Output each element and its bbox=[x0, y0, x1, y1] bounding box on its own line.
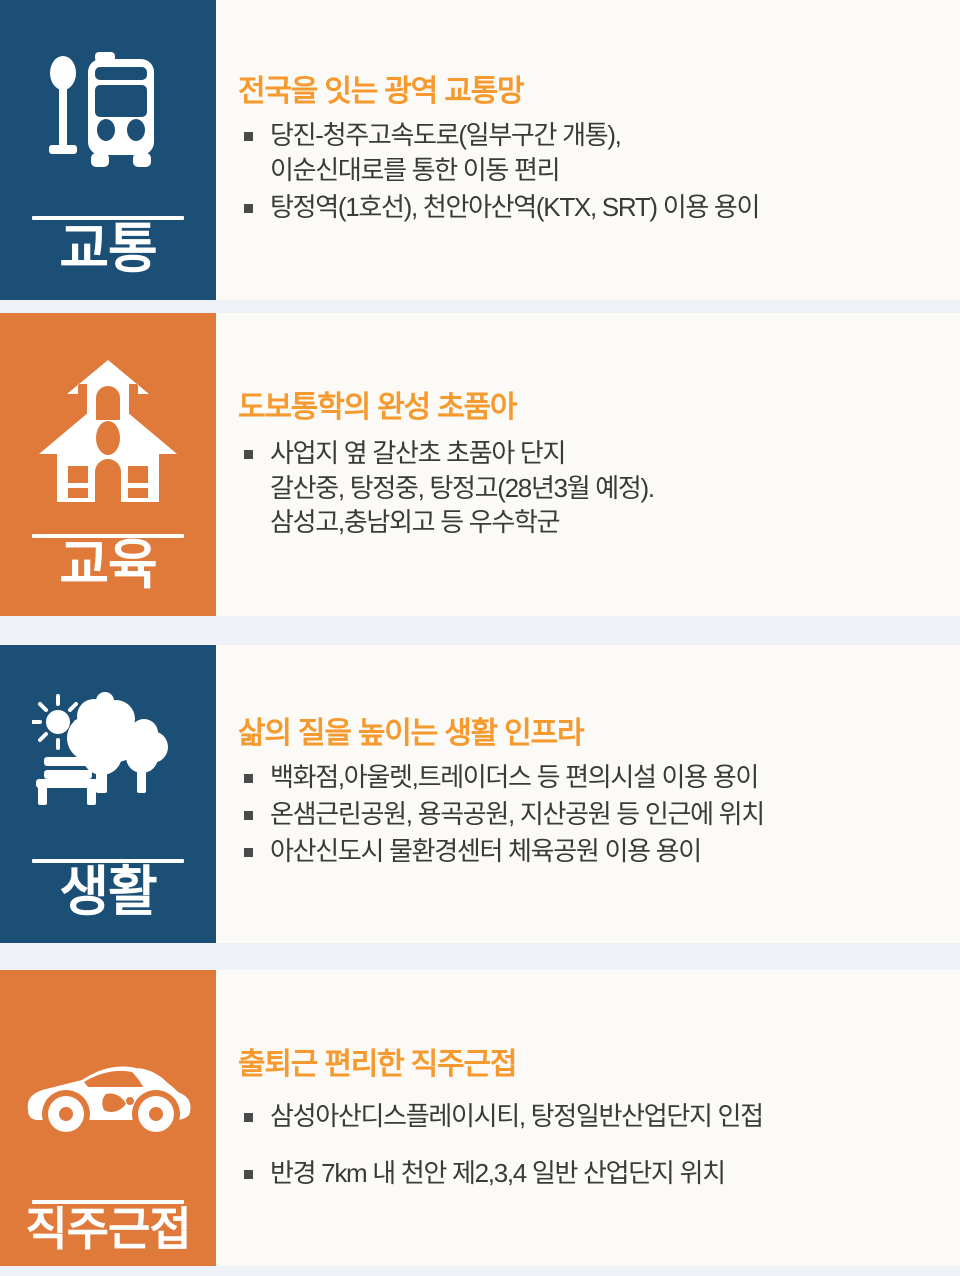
panel-label-lifestyle: 생활 bbox=[59, 865, 156, 943]
schoolhouse-icon bbox=[0, 313, 216, 534]
panel-label-transport: 교통 bbox=[59, 222, 156, 300]
convertible-car-icon bbox=[0, 970, 216, 1200]
infographic-board: 교통 전국을 잇는 광역 교통망 당진-청주고속도로(일부구간 개통), 이순신… bbox=[0, 0, 960, 1276]
list-item: 반경 7km 내 천안 제2,3,4 일반 산업단지 위치 bbox=[238, 1156, 946, 1191]
list-item: 탕정역(1호선), 천안아산역(KTX, SRT) 이용 용이 bbox=[238, 190, 946, 225]
panel-label-education: 교육 bbox=[59, 538, 156, 616]
card-headline-commute: 출퇴근 편리한 직주근접 bbox=[238, 1048, 946, 1081]
card-headline-education: 도보통학의 완성 초품아 bbox=[238, 391, 946, 424]
feature-card-lifestyle: 생활 삶의 질을 높이는 생활 인프라 백화점,아울렛,트레이더스 등 편의시설… bbox=[0, 645, 960, 943]
icon-panel-education: 교육 bbox=[0, 313, 216, 616]
icon-panel-commute: 직주근접 bbox=[0, 970, 216, 1266]
feature-card-transport: 교통 전국을 잇는 광역 교통망 당진-청주고속도로(일부구간 개통), 이순신… bbox=[0, 0, 960, 300]
list-item: 사업지 옆 갈산초 초품아 단지 갈산중, 탕정중, 탕정고(28년3월 예정)… bbox=[238, 436, 946, 540]
list-item: 온샘근린공원, 용곡공원, 지산공원 등 인근에 위치 bbox=[238, 797, 946, 832]
park-bench-tree-icon bbox=[0, 645, 216, 859]
icon-panel-transport: 교통 bbox=[0, 0, 216, 300]
icon-panel-lifestyle: 생활 bbox=[0, 645, 216, 943]
list-item: 백화점,아울렛,트레이더스 등 편의시설 이용 용이 bbox=[238, 760, 946, 795]
panel-label-commute: 직주근접 bbox=[25, 1206, 190, 1266]
list-item: 삼성아산디스플레이시티, 탕정일반산업단지 인접 bbox=[238, 1099, 946, 1134]
card-content-education: 도보통학의 완성 초품아 사업지 옆 갈산초 초품아 단지 갈산중, 탕정중, … bbox=[216, 313, 960, 616]
card-headline-lifestyle: 삶의 질을 높이는 생활 인프라 bbox=[238, 717, 946, 750]
bullet-list-transport: 당진-청주고속도로(일부구간 개통), 이순신대로를 통한 이동 편리 탕정역(… bbox=[238, 118, 946, 226]
list-item: 당진-청주고속도로(일부구간 개통), 이순신대로를 통한 이동 편리 bbox=[238, 118, 946, 188]
bullet-list-commute: 삼성아산디스플레이시티, 탕정일반산업단지 인접 반경 7km 내 천안 제2,… bbox=[238, 1099, 946, 1191]
bullet-list-lifestyle: 백화점,아울렛,트레이더스 등 편의시설 이용 용이 온샘근린공원, 용곡공원,… bbox=[238, 760, 946, 870]
card-headline-transport: 전국을 잇는 광역 교통망 bbox=[238, 75, 946, 108]
card-content-transport: 전국을 잇는 광역 교통망 당진-청주고속도로(일부구간 개통), 이순신대로를… bbox=[216, 0, 960, 300]
card-content-lifestyle: 삶의 질을 높이는 생활 인프라 백화점,아울렛,트레이더스 등 편의시설 이용… bbox=[216, 645, 960, 943]
list-item: 아산신도시 물환경센터 체육공원 이용 용이 bbox=[238, 834, 946, 869]
bus-stop-icon bbox=[0, 0, 216, 216]
card-content-commute: 출퇴근 편리한 직주근접 삼성아산디스플레이시티, 탕정일반산업단지 인접 반경… bbox=[216, 970, 960, 1266]
feature-card-education: 교육 도보통학의 완성 초품아 사업지 옆 갈산초 초품아 단지 갈산중, 탕정… bbox=[0, 313, 960, 616]
bullet-list-education: 사업지 옆 갈산초 초품아 단지 갈산중, 탕정중, 탕정고(28년3월 예정)… bbox=[238, 436, 946, 542]
feature-card-commute: 직주근접 출퇴근 편리한 직주근접 삼성아산디스플레이시티, 탕정일반산업단지 … bbox=[0, 970, 960, 1266]
